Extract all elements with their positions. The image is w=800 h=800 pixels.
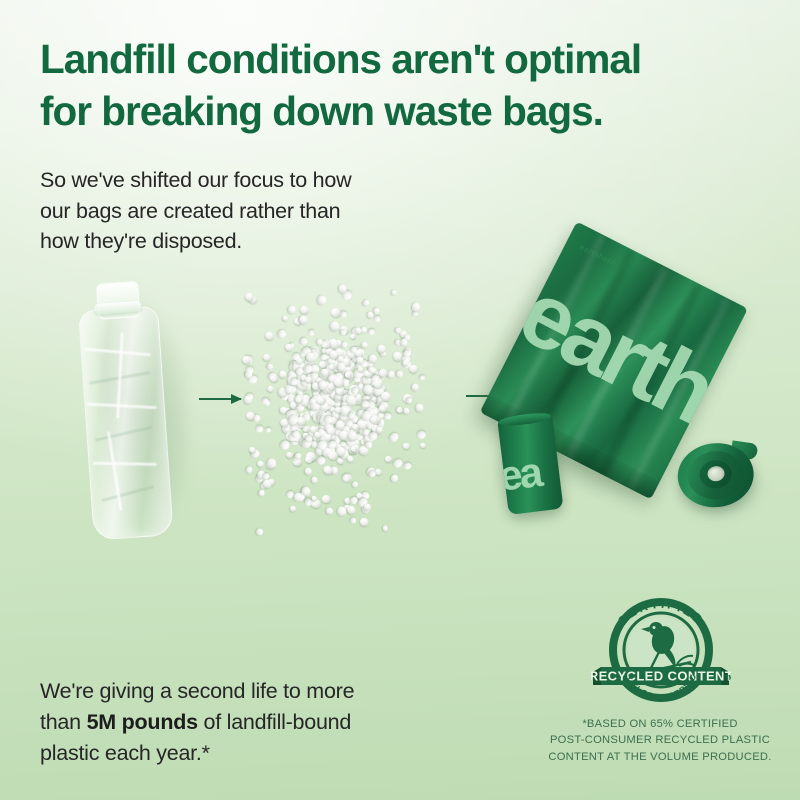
- pellet: [402, 442, 410, 449]
- pellet: [372, 307, 380, 315]
- highlight-5m-pounds: 5M pounds: [87, 710, 198, 734]
- certification-seal: CERTIFIED RECYCLED CONTENT TM SCS GLOBAL…: [591, 588, 731, 706]
- pellet: [299, 337, 309, 347]
- pellet: [305, 455, 314, 463]
- crushed-bottle-image: [70, 277, 183, 545]
- poster-canvas: Landfill conditions aren't optimal for b…: [0, 0, 800, 800]
- pellet: [329, 320, 340, 332]
- pellet: [263, 330, 275, 342]
- pellet: [288, 305, 296, 314]
- pellet: [384, 413, 391, 420]
- pellet: [322, 494, 331, 503]
- pellet: [419, 374, 427, 381]
- pellet: [320, 368, 328, 377]
- pellet: [363, 299, 370, 307]
- roll-body: ea: [497, 412, 563, 515]
- pellet: [384, 455, 392, 462]
- pellet: [317, 295, 327, 306]
- plastic-pellets-image: [238, 285, 428, 545]
- pellet: [268, 459, 277, 469]
- bag-roll-coiled-image: [672, 437, 763, 519]
- bottomcopy-line-2-pre: than: [40, 710, 87, 734]
- pellet: [349, 516, 357, 524]
- pellet: [299, 305, 311, 316]
- headline-line-2: for breaking down waste bags.: [40, 86, 770, 138]
- process-illustration: earthhero earth ea: [0, 255, 800, 575]
- bottom-copy-block: We're giving a second life to more than …: [40, 676, 460, 770]
- seal-trademark: TM: [724, 675, 731, 682]
- pellet: [382, 525, 389, 532]
- arrow-right-icon: [199, 398, 241, 400]
- pellet: [304, 466, 314, 476]
- pellet: [337, 362, 346, 372]
- pellet: [387, 371, 394, 379]
- pellet: [411, 382, 420, 392]
- pellet: [255, 527, 263, 536]
- pellet: [416, 430, 426, 439]
- pellet: [402, 461, 412, 470]
- subcopy-block: So we've shifted our focus to how our ba…: [40, 165, 460, 257]
- page-title: Landfill conditions aren't optimal for b…: [40, 34, 770, 138]
- pellet: [392, 457, 404, 469]
- pellet: [340, 341, 348, 349]
- pellet: [390, 474, 399, 484]
- pellet: [266, 385, 275, 394]
- pellet: [262, 353, 272, 363]
- pellet: [255, 425, 264, 433]
- pellet: [308, 329, 315, 335]
- subcopy-line-1: So we've shifted our focus to how: [40, 165, 460, 196]
- pellet: [269, 375, 278, 383]
- pellet: [399, 338, 408, 348]
- pellet: [258, 489, 266, 497]
- pellet: [368, 353, 378, 364]
- pellet: [419, 442, 427, 449]
- pellet: [340, 441, 346, 446]
- pellet: [397, 408, 404, 414]
- bottle-body: [78, 306, 174, 541]
- pellet: [391, 289, 397, 295]
- pellet: [311, 476, 318, 484]
- pellet: [267, 363, 274, 370]
- seal-graphic: CERTIFIED RECYCLED CONTENT TM SCS GLOBAL…: [591, 588, 731, 706]
- bottomcopy-line-1: We're giving a second life to more: [40, 676, 460, 707]
- pellet: [256, 460, 265, 469]
- pellet: [360, 341, 367, 349]
- pellet: [316, 338, 322, 345]
- bottomcopy-line-3: plastic each year.*: [40, 738, 460, 769]
- seal-ribbon-text: RECYCLED CONTENT: [591, 669, 731, 684]
- subcopy-line-2: our bags are created rather than: [40, 196, 460, 227]
- footnote-line-1: *BASED ON 65% CERTIFIED: [540, 716, 780, 732]
- pellet: [246, 367, 254, 375]
- footnote-block: *BASED ON 65% CERTIFIED POST-CONSUMER RE…: [540, 716, 780, 765]
- pellet: [350, 333, 357, 339]
- bottomcopy-line-2: than 5M pounds of landfill-bound: [40, 707, 460, 738]
- subcopy-line-3: how they're disposed.: [40, 226, 460, 257]
- pellet: [346, 454, 355, 463]
- pellet: [403, 407, 411, 415]
- pellet: [331, 307, 342, 317]
- pellet: [388, 431, 401, 444]
- pellet: [265, 427, 271, 432]
- pellet: [324, 433, 332, 441]
- bag-roll-upright-image: ea: [497, 412, 564, 518]
- pellet: [396, 370, 404, 379]
- bottomcopy-line-2-post: of landfill-bound: [198, 710, 351, 734]
- pellet: [373, 316, 380, 323]
- pellet: [415, 403, 425, 414]
- footnote-line-3: CONTENT AT THE VOLUME PRODUCED.: [540, 749, 780, 765]
- pellet: [339, 329, 347, 337]
- pellet: [326, 507, 334, 515]
- headline-line-1: Landfill conditions aren't optimal: [40, 34, 770, 86]
- pellet: [368, 328, 376, 335]
- pellet: [281, 315, 289, 323]
- pellet: [276, 327, 288, 339]
- pellet: [285, 385, 293, 394]
- pellet: [358, 516, 369, 527]
- pellet: [318, 380, 327, 390]
- pellet: [352, 482, 358, 489]
- pellet: [289, 504, 298, 513]
- pellet: [411, 303, 420, 313]
- footnote-line-2: POST-CONSUMER RECYCLED PLASTIC: [540, 732, 780, 748]
- pellet: [246, 466, 253, 474]
